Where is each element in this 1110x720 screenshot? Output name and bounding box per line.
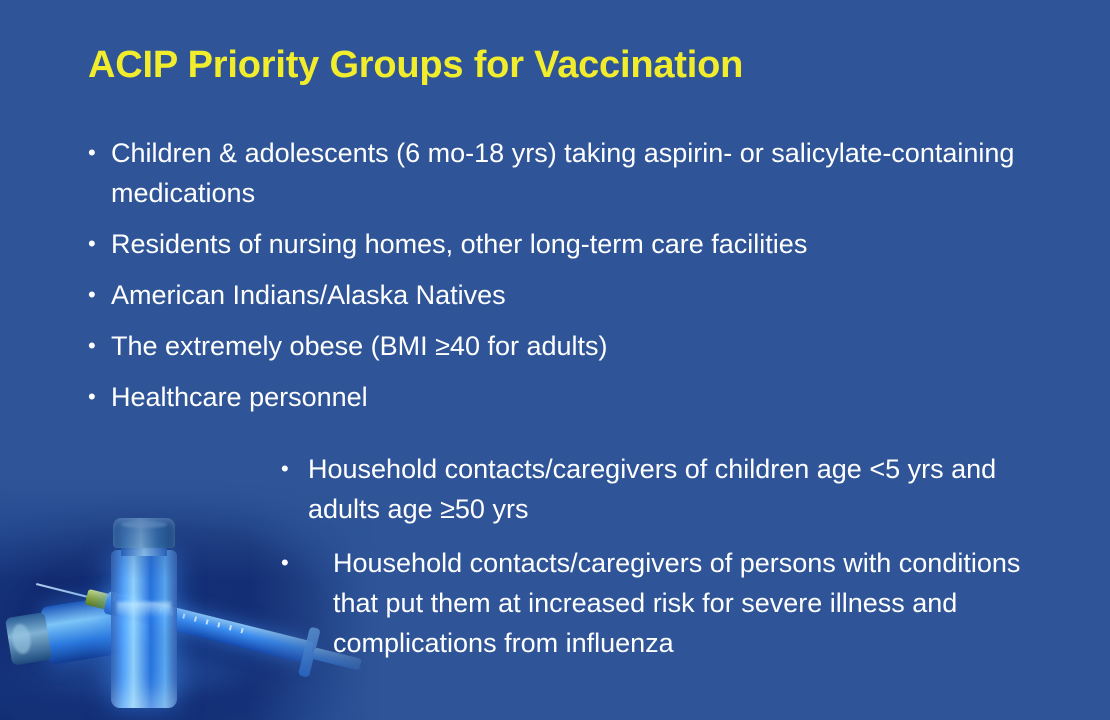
primary-bullet-list: • Children & adolescents (6 mo-18 yrs) t… — [86, 133, 1046, 428]
bullet-marker-icon: • — [88, 224, 104, 264]
vial-front-cap — [113, 518, 175, 548]
bullet-item-4: • The extremely obese (BMI ≥40 for adult… — [86, 326, 1046, 366]
bullet-item-2: • Residents of nursing homes, other long… — [86, 224, 1046, 264]
bullet-item-4-text: The extremely obese (BMI ≥40 for adults) — [111, 326, 1046, 366]
bullet-item-3: • American Indians/Alaska Natives — [86, 275, 1046, 315]
vial-rear-body — [40, 591, 152, 665]
vaccine-vial-front — [108, 518, 180, 708]
bullet-item-5-text: Healthcare personnel — [111, 377, 1046, 417]
vial-front-neck — [121, 542, 167, 556]
bullet-item-5: • Healthcare personnel — [86, 377, 1046, 417]
bullet-item-1: • Children & adolescents (6 mo-18 yrs) t… — [86, 133, 1046, 213]
bullet-marker-icon: • — [88, 133, 104, 173]
syringe-hub — [85, 589, 110, 610]
bullet-marker-icon: • — [281, 449, 289, 489]
bullet-item-1-text: Children & adolescents (6 mo-18 yrs) tak… — [111, 133, 1046, 213]
syringe-needle — [36, 583, 89, 598]
bullet-marker-icon: • — [281, 543, 289, 583]
sub-bullet-item-1: • Household contacts/caregivers of child… — [279, 449, 1059, 529]
bullet-item-3-text: American Indians/Alaska Natives — [111, 275, 1046, 315]
vial-rear-cap — [5, 612, 52, 666]
presentation-slide: ACIP Priority Groups for Vaccination • C… — [0, 0, 1110, 720]
bullet-item-2-text: Residents of nursing homes, other long-t… — [111, 224, 1046, 264]
bullet-marker-icon: • — [88, 326, 104, 366]
sub-bullet-item-2: • Household contacts/caregivers of perso… — [279, 543, 1059, 663]
sub-bullet-item-1-text: Household contacts/caregivers of childre… — [308, 449, 1059, 529]
bullet-marker-icon: • — [88, 377, 104, 417]
secondary-bullet-list: • Household contacts/caregivers of child… — [279, 449, 1059, 677]
sub-bullet-item-2-text: Household contacts/caregivers of persons… — [333, 543, 1059, 663]
bullet-marker-icon: • — [88, 275, 104, 315]
vaccine-vial-rear — [4, 591, 152, 672]
vial-front-body — [111, 550, 177, 708]
vial-front-liquid-line — [117, 602, 171, 616]
slide-title: ACIP Priority Groups for Vaccination — [88, 44, 743, 87]
